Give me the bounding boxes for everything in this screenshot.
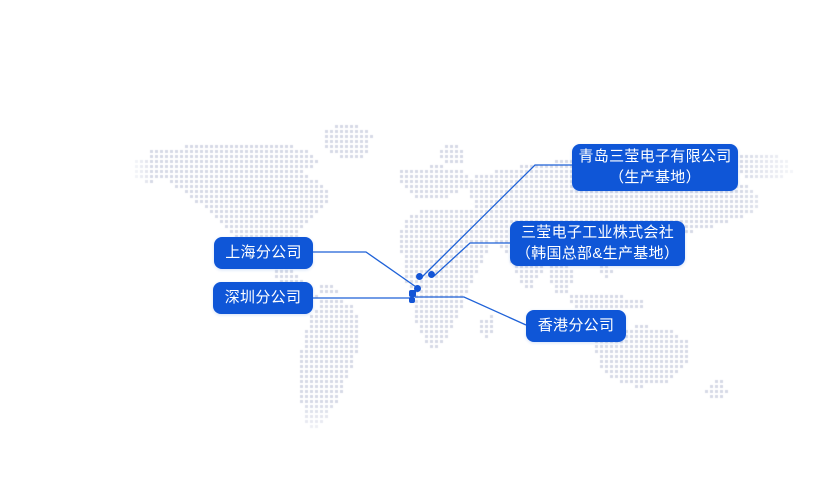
label-korea-hq[interactable]: 三莹电子工业株式会社（韩国总部&生产基地） [510, 221, 685, 266]
marker-korea[interactable] [428, 271, 435, 278]
label-shenzhen-line1: 深圳分公司 [225, 288, 302, 308]
label-shanghai-line1: 上海分公司 [225, 243, 302, 263]
label-qingdao-line2: （生产基地） [609, 168, 701, 188]
label-qingdao[interactable]: 青岛三莹电子有限公司（生产基地） [572, 144, 738, 191]
world-map-infographic: 青岛三莹电子有限公司（生产基地）三莹电子工业株式会社（韩国总部&生产基地）上海分… [0, 0, 824, 480]
label-hong-kong[interactable]: 香港分公司 [526, 310, 626, 342]
marker-qingdao[interactable] [416, 273, 423, 280]
label-korea-hq-line2: （韩国总部&生产基地） [516, 244, 679, 264]
label-shenzhen[interactable]: 深圳分公司 [213, 282, 313, 314]
dotted-world-map-canvas [0, 0, 824, 480]
label-korea-hq-line1: 三莹电子工业株式会社 [521, 223, 674, 243]
marker-hong-kong[interactable] [409, 297, 415, 303]
world-map-layer [0, 0, 824, 480]
label-hong-kong-line1: 香港分公司 [538, 316, 615, 336]
label-shanghai[interactable]: 上海分公司 [214, 237, 313, 269]
marker-shenzhen[interactable] [409, 290, 416, 297]
label-qingdao-line1: 青岛三莹电子有限公司 [579, 147, 732, 167]
